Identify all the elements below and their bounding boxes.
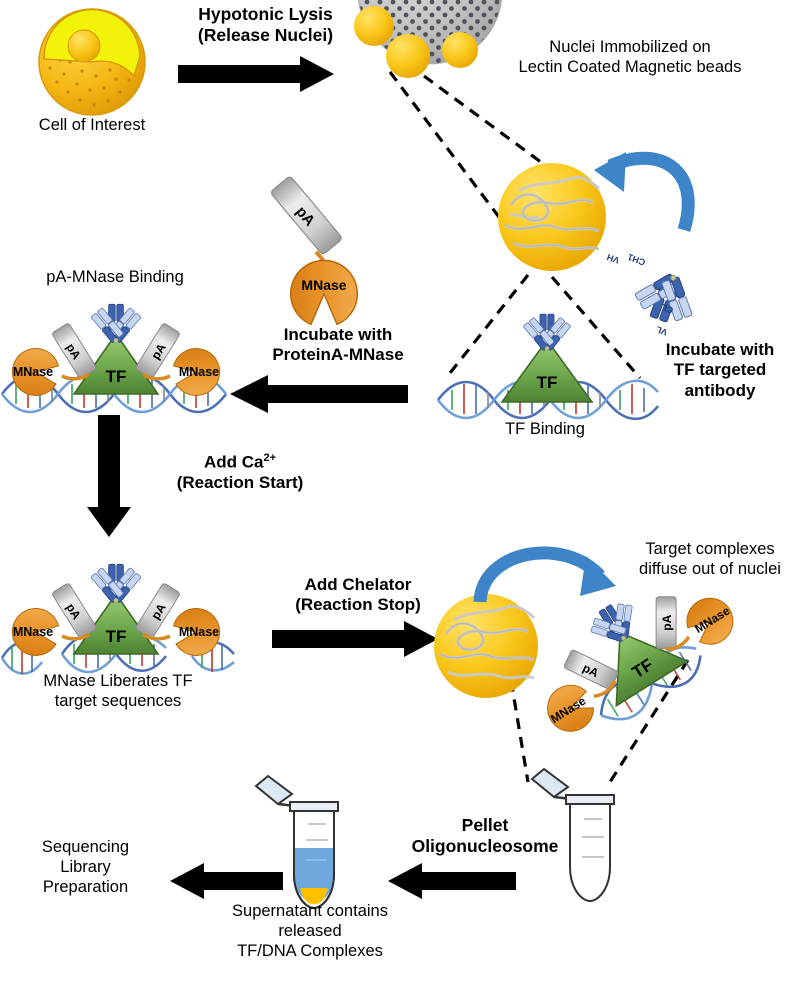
released-complex-figure: TF pA MNase pA <box>528 580 748 740</box>
arrow-hypotonic-lysis <box>178 55 338 95</box>
hypotonic-lysis-label: Hypotonic Lysis (Release Nuclei) <box>178 4 353 46</box>
antibody-ch3-label: CH3 <box>705 228 725 244</box>
supernatant-label: Supernatant contains released TF/DNA Com… <box>175 902 445 961</box>
nuclei-immobilized-label: Nuclei Immobilized on Lectin Coated Magn… <box>480 38 780 78</box>
pellet-oligonucleosome-label: Pellet Oligonucleosome <box>390 815 580 857</box>
tf-label: TF <box>106 367 127 386</box>
cut-and-run-diagram: Cell of Interest Hypotonic Lysis (Releas… <box>0 0 800 987</box>
pa-mnase-binding-label: pA-MNase Binding <box>10 268 220 288</box>
cell-of-interest-label: Cell of Interest <box>2 116 182 136</box>
incubate-antibody-label: Incubate with TF targeted antibody <box>640 340 800 401</box>
cell-of-interest-figure <box>22 4 162 124</box>
tf-label: TF <box>106 627 127 646</box>
tube-rim <box>566 795 614 804</box>
arrow-sequencing-library <box>168 862 283 902</box>
add-calcium-text: Add Ca <box>204 453 264 472</box>
add-chelator-label: Add Chelator (Reaction Stop) <box>268 575 448 616</box>
tube-rim <box>290 802 338 811</box>
cell-nucleus <box>68 30 100 62</box>
antibody-ch1-label: CH1 <box>626 252 646 268</box>
mnase-liberates-figure: TF pA MNase pA MNase <box>0 550 240 685</box>
pa-mnase-binding-figure: TF pA MNase pA MNase <box>0 290 240 425</box>
mnase-liberates-label: MNase Liberates TF target sequences <box>8 672 228 712</box>
tf-binding-label: TF Binding <box>455 420 635 440</box>
mnase-label: MNase <box>13 625 53 639</box>
mnase-label: MNase <box>301 277 346 293</box>
incubate-pa-mnase-label: Incubate with ProteinA-MNase <box>253 325 423 366</box>
target-complexes-label: Target complexes diffuse out of nuclei <box>610 540 800 580</box>
mnase-label: MNase <box>179 365 219 379</box>
sequencing-library-label: Sequencing Library Preparation <box>8 838 163 897</box>
tf-binding-figure: TF <box>432 318 662 428</box>
arrow-add-calcium <box>90 415 136 540</box>
reaction-start-text: (Reaction Start) <box>177 473 304 492</box>
add-calcium-label: Add Ca2+ (Reaction Start) <box>150 452 330 493</box>
antibody-ch2-label: CH2 <box>693 254 713 270</box>
calcium-charge-superscript: 2+ <box>263 452 276 464</box>
mnase-label: MNase <box>13 365 53 379</box>
arrow-pellet-oligonucleosome <box>386 862 516 902</box>
pa-label: pA <box>660 614 674 630</box>
arrow-add-chelator <box>272 620 442 660</box>
pa-mnase-molecule-figure: pA MNase <box>264 178 394 318</box>
tf-label: TF <box>537 373 558 392</box>
mnase-label: MNase <box>179 625 219 639</box>
arrow-incubate-pa-mnase <box>228 375 408 415</box>
